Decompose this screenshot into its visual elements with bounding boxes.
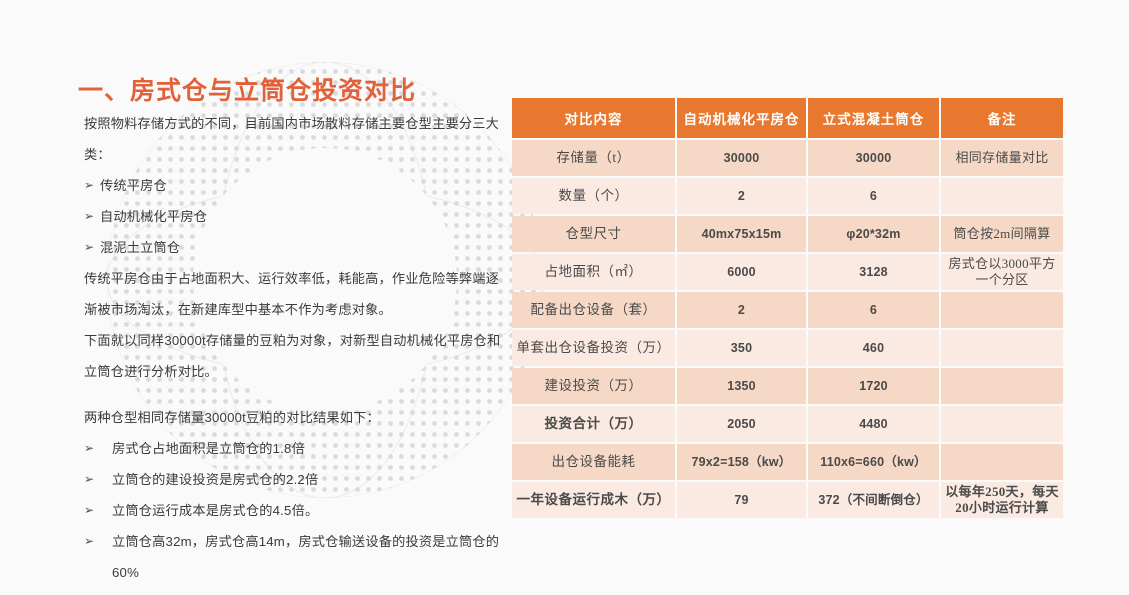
cell-label: 投资合计（万） xyxy=(512,406,675,442)
arrow-bullet-icon: ➢ xyxy=(84,201,100,232)
cell-house-warehouse: 350 xyxy=(677,330,806,366)
cell-concrete-silo: 1720 xyxy=(808,368,939,404)
cell-house-warehouse: 30000 xyxy=(677,140,806,176)
arrow-bullet-icon: ➢ xyxy=(84,433,112,464)
cell-concrete-silo: 30000 xyxy=(808,140,939,176)
cell-concrete-silo: 6 xyxy=(808,178,939,214)
arrow-bullet-icon: ➢ xyxy=(84,464,112,495)
cell-remark: 筒仓按2m间隔算 xyxy=(941,216,1063,252)
cell-label: 占地面积（㎡） xyxy=(512,254,675,290)
cell-remark: 相同存储量对比 xyxy=(941,140,1063,176)
type-list-item-0: 传统平房仓 xyxy=(100,170,504,201)
slide-canvas: 一、房式仓与立筒仓投资对比 按照物料存储方式的不同，目前国内市场散料存储主要仓型… xyxy=(0,0,1129,595)
cell-label: 数量（个） xyxy=(512,178,675,214)
cell-house-warehouse: 79 xyxy=(677,482,806,518)
list-item: ➢ 自动机械化平房仓 xyxy=(84,201,504,232)
traditional-paragraph: 传统平房仓由于占地面积大、运行效率低，耗能高，作业危险等弊端逐渐被市场淘汰，在新… xyxy=(84,263,504,325)
cell-remark xyxy=(941,330,1063,366)
column-header-remark: 备注 xyxy=(941,98,1063,138)
table-row: 单套出仓设备投资（万）350460 xyxy=(512,330,1063,366)
cell-label: 建设投资（万） xyxy=(512,368,675,404)
cell-label: 配备出仓设备（套） xyxy=(512,292,675,328)
type-list-item-1: 自动机械化平房仓 xyxy=(100,201,504,232)
cell-house-warehouse: 2050 xyxy=(677,406,806,442)
results-intro-paragraph: 两种仓型相同存储量30000t豆粕的对比结果如下： xyxy=(84,402,504,433)
cell-remark: 房式仓以3000平方一个分区 xyxy=(941,254,1063,290)
cell-concrete-silo: 3128 xyxy=(808,254,939,290)
cell-house-warehouse: 79x2=158（kw） xyxy=(677,444,806,480)
column-header-concrete-silo: 立式混凝土筒仓 xyxy=(808,98,939,138)
type-list-item-2: 混泥土立筒仓 xyxy=(100,232,504,263)
conclusion-item-1: 立筒仓的建设投资是房式仓的2.2倍 xyxy=(112,464,504,495)
table-row: 出仓设备能耗79x2=158（kw）110x6=660（kw） xyxy=(512,444,1063,480)
cell-concrete-silo: 6 xyxy=(808,292,939,328)
table-row: 配备出仓设备（套）26 xyxy=(512,292,1063,328)
page-title: 一、房式仓与立筒仓投资对比 xyxy=(78,71,416,107)
cell-remark xyxy=(941,368,1063,404)
list-item: ➢ 立筒仓运行成本是房式仓的4.5倍。 xyxy=(84,495,504,526)
table-row: 存储量（t）3000030000相同存储量对比 xyxy=(512,140,1063,176)
cell-label: 出仓设备能耗 xyxy=(512,444,675,480)
table-row: 数量（个）26 xyxy=(512,178,1063,214)
cell-house-warehouse: 1350 xyxy=(677,368,806,404)
table-row: 投资合计（万）20504480 xyxy=(512,406,1063,442)
list-item: ➢ 立筒仓高32m，房式仓高14m，房式仓输送设备的投资是立筒仓的60% xyxy=(84,526,504,588)
table-row: 一年设备运行成木（万）79372（不间断倒仓）以每年250天，每天20小时运行计… xyxy=(512,482,1063,518)
cell-concrete-silo: 110x6=660（kw） xyxy=(808,444,939,480)
left-text-column: 按照物料存储方式的不同，目前国内市场散料存储主要仓型主要分三大类： ➢ 传统平房… xyxy=(84,108,504,588)
arrow-bullet-icon: ➢ xyxy=(84,526,112,557)
cell-house-warehouse: 2 xyxy=(677,178,806,214)
cell-remark xyxy=(941,178,1063,214)
cell-concrete-silo: 372（不间断倒仓） xyxy=(808,482,939,518)
cell-remark xyxy=(941,406,1063,442)
cell-concrete-silo: 4480 xyxy=(808,406,939,442)
cell-label: 存储量（t） xyxy=(512,140,675,176)
cell-remark xyxy=(941,292,1063,328)
table-header-row: 对比内容 自动机械化平房仓 立式混凝土筒仓 备注 xyxy=(512,98,1063,138)
conclusion-item-2: 立筒仓运行成本是房式仓的4.5倍。 xyxy=(112,495,504,526)
cell-house-warehouse: 40mx75x15m xyxy=(677,216,806,252)
scope-paragraph: 下面就以同样30000t存储量的豆粕为对象，对新型自动机械化平房仓和立筒仓进行分… xyxy=(84,325,504,387)
column-header-house-warehouse: 自动机械化平房仓 xyxy=(677,98,806,138)
list-item: ➢ 房式仓占地面积是立筒仓的1.8倍 xyxy=(84,433,504,464)
cell-remark xyxy=(941,444,1063,480)
list-item: ➢ 传统平房仓 xyxy=(84,170,504,201)
arrow-bullet-icon: ➢ xyxy=(84,495,112,526)
comparison-table: 对比内容 自动机械化平房仓 立式混凝土筒仓 备注 存储量（t）300003000… xyxy=(510,96,1065,520)
list-item: ➢ 混泥土立筒仓 xyxy=(84,232,504,263)
cell-label: 单套出仓设备投资（万） xyxy=(512,330,675,366)
cell-concrete-silo: 460 xyxy=(808,330,939,366)
list-item: ➢ 立筒仓的建设投资是房式仓的2.2倍 xyxy=(84,464,504,495)
intro-paragraph: 按照物料存储方式的不同，目前国内市场散料存储主要仓型主要分三大类： xyxy=(84,108,504,170)
cell-label: 一年设备运行成木（万） xyxy=(512,482,675,518)
arrow-bullet-icon: ➢ xyxy=(84,170,100,201)
conclusion-item-0: 房式仓占地面积是立筒仓的1.8倍 xyxy=(112,433,504,464)
cell-house-warehouse: 2 xyxy=(677,292,806,328)
conclusion-item-3: 立筒仓高32m，房式仓高14m，房式仓输送设备的投资是立筒仓的60% xyxy=(112,526,504,588)
table-body: 存储量（t）3000030000相同存储量对比数量（个）26仓型尺寸40mx75… xyxy=(512,140,1063,518)
cell-remark: 以每年250天，每天20小时运行计算 xyxy=(941,482,1063,518)
table-row: 占地面积（㎡）60003128房式仓以3000平方一个分区 xyxy=(512,254,1063,290)
cell-house-warehouse: 6000 xyxy=(677,254,806,290)
table-row: 仓型尺寸40mx75x15mφ20*32m筒仓按2m间隔算 xyxy=(512,216,1063,252)
table-row: 建设投资（万）13501720 xyxy=(512,368,1063,404)
column-header-category: 对比内容 xyxy=(512,98,675,138)
cell-label: 仓型尺寸 xyxy=(512,216,675,252)
arrow-bullet-icon: ➢ xyxy=(84,232,100,263)
cell-concrete-silo: φ20*32m xyxy=(808,216,939,252)
